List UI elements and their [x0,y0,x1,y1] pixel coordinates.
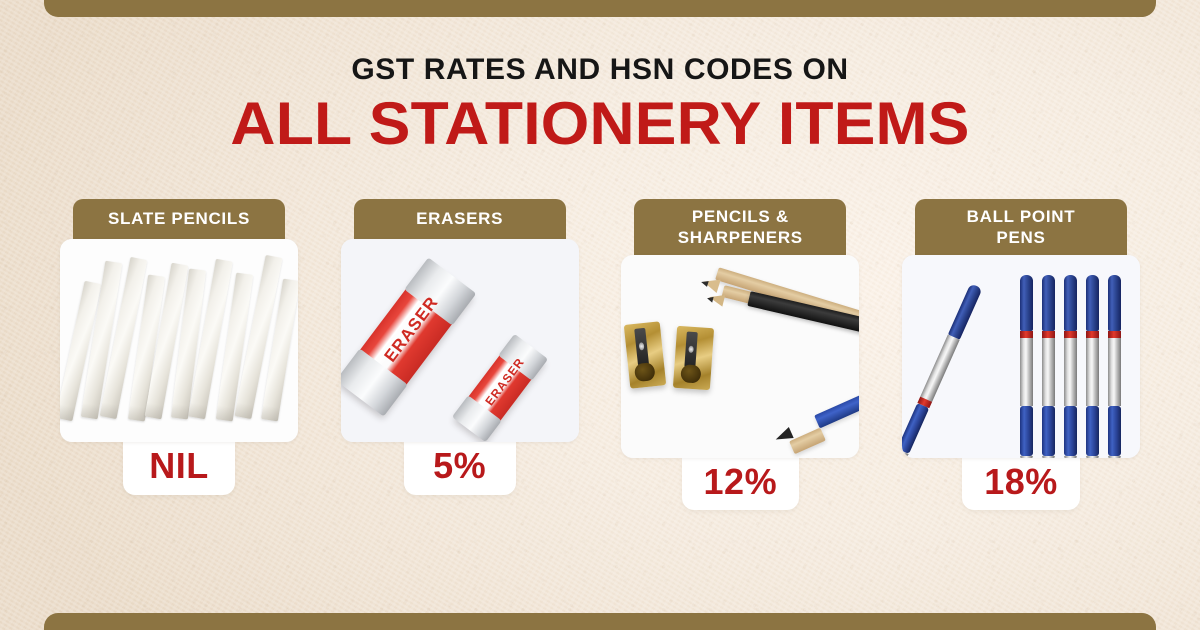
pen-red-ring [1020,331,1033,338]
category-card-ball-point-pens: BALL POINT PENS [902,199,1140,510]
eraser-label-text: ERASER [482,368,517,408]
pen-grip [1042,406,1055,456]
category-card-pencils-sharpeners: PENCILS & SHARPENERS [621,199,859,510]
category-label-line-1: PENCILS & [692,207,789,226]
page-title: ALL STATIONERY ITEMS [0,93,1200,154]
ball-point-pens-image [902,255,1140,458]
category-header-ball-point-pens: BALL POINT PENS [915,199,1127,261]
gst-rate-badge-pencils-sharpeners: 12% [682,456,800,511]
gst-rate-badge-ball-point-pens: 18% [962,456,1080,511]
pen-red-ring [1086,331,1099,338]
erasers-illustration: ERASER ERASER [341,239,579,442]
pen-upright-2 [1042,275,1055,458]
pen-cap [1064,275,1077,331]
category-label-line-1: BALL POINT [967,207,1076,226]
category-card-slate-pencils: SLATE PENCILS NIL [60,199,298,495]
sharpener-hole [635,361,656,381]
category-label: SLATE PENCILS [108,208,250,229]
pen-upright-1 [1020,275,1033,458]
gst-rate-badge-erasers: 5% [404,440,516,495]
pen-grip [1064,406,1077,456]
pen-upright-5 [1108,275,1121,458]
category-label-line-2: SHARPENERS [678,228,803,247]
erasers-image: ERASER ERASER [341,239,579,442]
pen-barrel [1108,338,1121,406]
poster-heading-group: GST RATES AND HSN CODES ON ALL STATIONER… [0,55,1200,154]
pen-nose-cone [1020,456,1033,458]
eraser-small: ERASER [453,335,546,441]
slate-pencils-image [60,239,298,442]
pen-red-ring [1064,331,1077,338]
gst-rate-badge-slate-pencils: NIL [123,440,235,495]
eraser-label-text: ERASER [380,308,431,366]
pen-diagonal [902,283,983,458]
pen-grip [1020,406,1033,456]
category-label: BALL POINT PENS [967,206,1076,249]
sharpener-hole [680,364,701,383]
pen-nose-cone [1108,456,1121,458]
pen-upright-4 [1086,275,1099,458]
category-label: ERASERS [416,208,503,229]
pen-cap [948,283,983,339]
pen-barrel [1086,338,1099,406]
category-card-row: SLATE PENCILS NIL [60,199,1140,510]
pen-upright-3 [1064,275,1077,458]
category-label-line-2: PENS [996,228,1045,247]
pen-grip [902,402,929,453]
category-label: PENCILS & SHARPENERS [678,206,803,249]
pen-cap [1108,275,1121,331]
brass-sharpener-left [624,321,666,388]
bottom-brown-bar [44,613,1156,630]
pen-cap [1020,275,1033,331]
pen-barrel [1042,338,1055,406]
gst-stationery-infographic: GST RATES AND HSN CODES ON ALL STATIONER… [0,0,1200,630]
category-card-erasers: ERASERS ERASER ERASER 5% [341,199,579,495]
pen-red-ring [1042,331,1055,338]
brass-sharpener-right [673,325,714,389]
pen-nose-cone [1064,456,1077,458]
pen-barrel [920,334,960,401]
ball-point-pens-illustration [902,255,1140,458]
pencils-sharpeners-illustration [621,255,859,458]
slate-pencils-illustration [60,239,298,442]
pen [902,283,983,458]
top-brown-bar [44,0,1156,17]
pen-grip [1108,406,1121,456]
pen-barrel [1020,338,1033,406]
page-subtitle: GST RATES AND HSN CODES ON [0,55,1200,85]
pen-grip [1086,406,1099,456]
pencils-sharpeners-image [621,255,859,458]
pen-nose-cone [1086,456,1099,458]
category-header-pencils-sharpeners: PENCILS & SHARPENERS [634,199,846,261]
pen-cap [1042,275,1055,331]
blue-pencil-wood-cone [789,427,826,454]
pen-barrel [1064,338,1077,406]
blue-pencil [814,378,859,427]
pen-red-ring [1108,331,1121,338]
pen-cap [1086,275,1099,331]
pen-nose-cone [1042,456,1055,458]
eraser-large: ERASER [341,259,475,415]
